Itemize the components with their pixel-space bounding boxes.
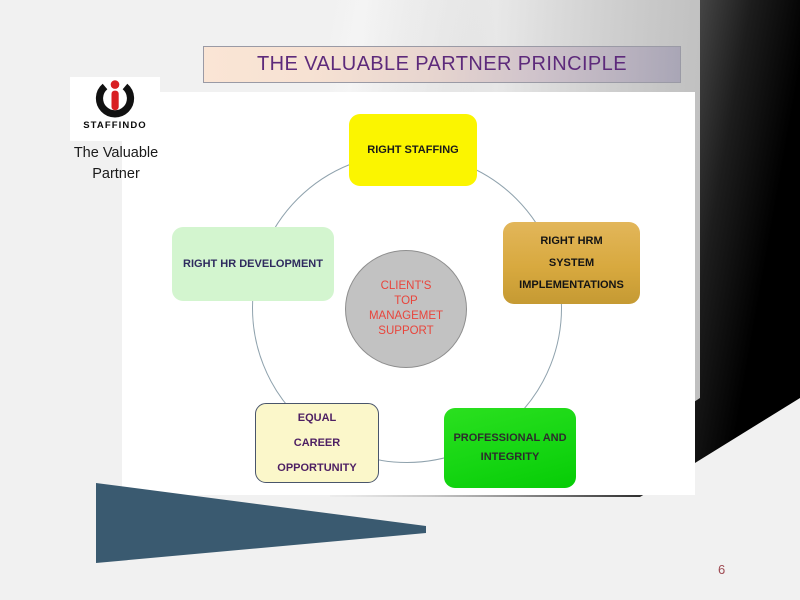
node-equal-line-1: EQUAL: [298, 406, 337, 431]
node-right-hrm-line-2: SYSTEM: [549, 252, 594, 274]
node-professional-line-1: PROFESSIONAL AND: [453, 429, 566, 448]
hub-line-1: CLIENT'S: [381, 279, 432, 294]
node-professional-line-2: INTEGRITY: [481, 448, 540, 467]
slide-canvas: THE VALUABLE PARTNER PRINCIPLE STAFFINDO…: [0, 0, 800, 600]
node-equal-career-opportunity[interactable]: EQUAL CAREER OPPORTUNITY: [255, 403, 379, 483]
staffindo-logo-icon: [92, 79, 138, 121]
node-equal-line-2: CAREER: [294, 431, 340, 456]
page-number: 6: [718, 562, 725, 577]
node-right-hr-development-line-1: RIGHT HR DEVELOPMENT: [183, 254, 323, 274]
node-professional-and-integrity[interactable]: PROFESSIONAL AND INTEGRITY: [444, 408, 576, 488]
hub-line-2: TOP: [394, 294, 417, 309]
node-right-hrm-system-implementations[interactable]: RIGHT HRM SYSTEM IMPLEMENTATIONS: [503, 222, 640, 304]
node-right-hrm-line-1: RIGHT HRM: [540, 230, 602, 252]
node-right-staffing-line-1: RIGHT STAFFING: [367, 140, 458, 160]
hub-line-3: MANAGEMET: [369, 309, 443, 324]
node-equal-line-3: OPPORTUNITY: [277, 456, 356, 481]
cycle-hub: CLIENT'S TOP MANAGEMET SUPPORT: [345, 250, 467, 368]
logo-caption: STAFFINDO: [83, 120, 147, 131]
slide-title-bar: THE VALUABLE PARTNER PRINCIPLE: [203, 46, 681, 83]
logo-block: STAFFINDO: [70, 77, 160, 141]
cycle-diagram: CLIENT'S TOP MANAGEMET SUPPORT RIGHT STA…: [155, 105, 675, 505]
node-right-staffing[interactable]: RIGHT STAFFING: [349, 114, 477, 186]
node-right-hrm-line-3: IMPLEMENTATIONS: [519, 274, 624, 296]
page-title: THE VALUABLE PARTNER PRINCIPLE: [257, 53, 627, 76]
node-right-hr-development[interactable]: RIGHT HR DEVELOPMENT: [172, 227, 334, 301]
hub-line-4: SUPPORT: [378, 324, 433, 339]
